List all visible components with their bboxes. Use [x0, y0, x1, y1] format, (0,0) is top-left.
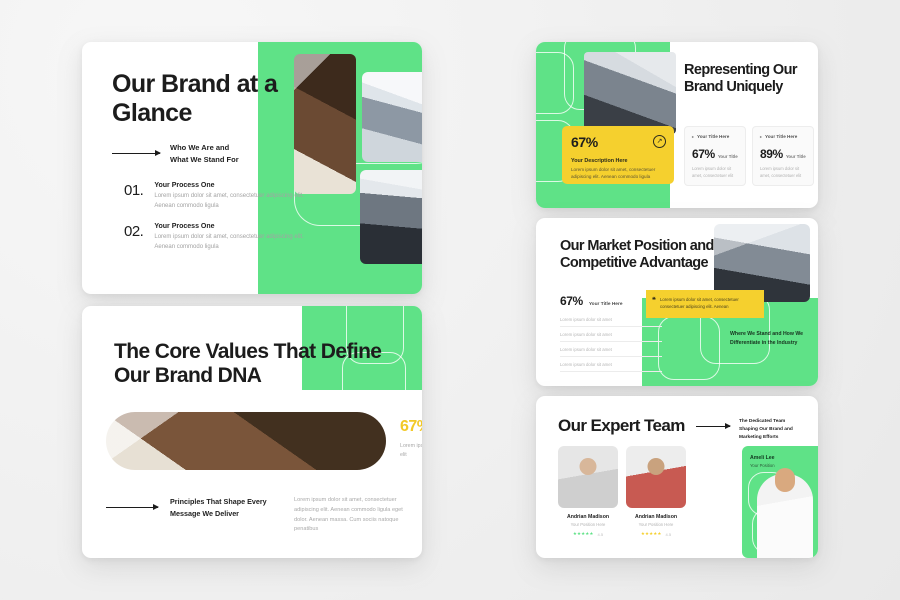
- page-title: The Core Values That Define Our Brand DN…: [114, 340, 414, 388]
- rating: ★★★★★ 4.5: [558, 531, 618, 537]
- page-title: Representing Our Brand Uniquely: [684, 62, 812, 95]
- quote-icon: ❝: [652, 296, 656, 304]
- stat-value: 67%Your Title: [692, 147, 738, 161]
- member-name: Andrian Madison: [626, 514, 686, 520]
- avatar: [626, 446, 686, 508]
- stat-label: Your Title Here: [760, 134, 806, 139]
- stat-body: Lorem ipsum dolor sit amet, consectetuer…: [760, 166, 806, 180]
- stat-number: 67%: [692, 147, 715, 161]
- featured-position: Your Position: [750, 463, 775, 468]
- featured-name: Ameli Lee: [750, 455, 775, 461]
- step-number: 02.: [124, 223, 143, 253]
- process-list: 01. Your Process One Lorem ipsum dolor s…: [124, 182, 314, 264]
- stat-suffix: Your Title: [718, 154, 738, 159]
- slide-our-brand-at-a-glance[interactable]: Our Brand at a Glance Who We Are and Wha…: [82, 42, 422, 294]
- slide-deck-preview: Our Brand at a Glance Who We Are and Wha…: [0, 0, 900, 600]
- green-caption: Where We Stand and How We Differentiate …: [730, 330, 806, 347]
- stat-card-group: Your Title Here 67%Your Title Lorem ipsu…: [684, 126, 814, 186]
- page-title: Our Expert Team: [558, 416, 685, 435]
- rating-score: 4.5: [666, 532, 672, 537]
- highlight-card[interactable]: ↗ 67% Your Description Here Lorem ipsum …: [562, 126, 674, 184]
- slide-core-values[interactable]: The Core Values That Define Our Brand DN…: [82, 306, 422, 558]
- quote-text: Lorem ipsum dolor sit amet, consectetuer…: [660, 296, 756, 311]
- page-title: Our Brand at a Glance: [112, 70, 312, 127]
- stat-body: Lorem ipsum dolor sit amet, consectetuer…: [692, 166, 738, 180]
- step-number: 01.: [124, 182, 143, 212]
- star-icon: ★★★★★: [641, 531, 662, 537]
- step-heading: Your Process One: [154, 182, 314, 189]
- percent-body: Lorem ipsum dolor sit amet, consectetuer…: [400, 442, 422, 460]
- footer-heading: Principles That Shape Every Message We D…: [170, 496, 282, 519]
- member-name: Andrian Madison: [558, 514, 618, 520]
- subtitle-line-1: Who We Are and: [170, 142, 239, 154]
- slide-representing-our-brand[interactable]: Representing Our Brand Uniquely ↗ 67% Yo…: [536, 42, 818, 208]
- rating-score: 4.5: [598, 532, 604, 537]
- market-percent-row: 67% Your Title Here: [560, 294, 623, 308]
- percent-block: 67% Your Title Lorem ipsum dolor sit ame…: [400, 418, 422, 460]
- photo-workdesk: [106, 412, 386, 470]
- market-percent-label: Your Title Here: [589, 302, 623, 307]
- list-item: Lorem ipsum dolor sit amet: [560, 342, 662, 357]
- stat-card[interactable]: Your Title Here 67%Your Title Lorem ipsu…: [684, 126, 746, 186]
- photo-boardroom: [360, 170, 422, 264]
- list-item: Lorem ipsum dolor sit amet: [560, 327, 662, 342]
- list-item[interactable]: Andrian Madison Your Position Here ★★★★★…: [626, 446, 686, 537]
- team-tagline-row: The Dedicated Team Shaping Our Brand and…: [696, 418, 805, 441]
- photo-presentation: [584, 52, 676, 134]
- arrow-icon: [106, 507, 158, 508]
- arrow-icon: [112, 153, 160, 154]
- subtitle-line-2: What We Stand For: [170, 154, 239, 166]
- highlight-body: Lorem ipsum dolor sit amet, consectetuer…: [571, 166, 665, 181]
- avatar: [558, 446, 618, 508]
- featured-member-card[interactable]: Ameli Lee Your Position: [742, 446, 818, 558]
- step-heading: Your Process One: [154, 223, 314, 230]
- rating: ★★★★★ 4.5: [626, 531, 686, 537]
- highlight-heading: Your Description Here: [571, 158, 665, 164]
- list-item: 02. Your Process One Lorem ipsum dolor s…: [124, 223, 314, 253]
- slide1-text-block: Our Brand at a Glance: [112, 70, 312, 127]
- stat-number: 89%: [760, 147, 783, 161]
- step-body: Lorem ipsum dolor sit amet, consectetuer…: [154, 233, 314, 253]
- market-percent-value: 67%: [560, 294, 583, 308]
- quote-card: ❝ Lorem ipsum dolor sit amet, consectetu…: [646, 290, 764, 318]
- photo-meeting: [362, 72, 422, 162]
- highlight-value: 67%: [571, 134, 665, 150]
- stat-suffix: Your Title: [786, 154, 806, 159]
- bullet-list: Lorem ipsum dolor sit amet Lorem ipsum d…: [560, 312, 662, 372]
- slide-market-position[interactable]: Our Market Position and Competitive Adva…: [536, 218, 818, 386]
- featured-photo-head: [775, 468, 795, 492]
- slide-expert-team[interactable]: Our Expert Team The Dedicated Team Shapi…: [536, 396, 818, 558]
- slide4-footer: Principles That Shape Every Message We D…: [106, 496, 416, 535]
- stat-value: 89%Your Title: [760, 147, 806, 161]
- list-item: 01. Your Process One Lorem ipsum dolor s…: [124, 182, 314, 212]
- percent-value: 67%: [400, 418, 422, 436]
- arrow-icon: [696, 426, 730, 427]
- list-item: Lorem ipsum dolor sit amet: [560, 357, 662, 372]
- stat-card[interactable]: Your Title Here 89%Your Title Lorem ipsu…: [752, 126, 814, 186]
- team-tagline: The Dedicated Team Shaping Our Brand and…: [739, 418, 805, 441]
- page-title: Our Market Position and Competitive Adva…: [560, 238, 730, 271]
- slide1-subtitle: Who We Are and What We Stand For: [170, 142, 239, 165]
- star-icon: ★★★★★: [573, 531, 594, 537]
- member-position: Your Position Here: [558, 522, 618, 527]
- footer-body: Lorem ipsum dolor sit amet, consectetuer…: [294, 496, 416, 535]
- step-body: Lorem ipsum dolor sit amet, consectetuer…: [154, 192, 314, 212]
- member-position: Your Position Here: [626, 522, 686, 527]
- stat-label: Your Title Here: [692, 134, 738, 139]
- slide1-subtitle-row: Who We Are and What We Stand For: [112, 142, 239, 165]
- list-item[interactable]: Andrian Madison Your Position Here ★★★★★…: [558, 446, 618, 537]
- arrow-up-right-icon[interactable]: ↗: [653, 135, 666, 148]
- team-member-list: Andrian Madison Your Position Here ★★★★★…: [558, 446, 686, 537]
